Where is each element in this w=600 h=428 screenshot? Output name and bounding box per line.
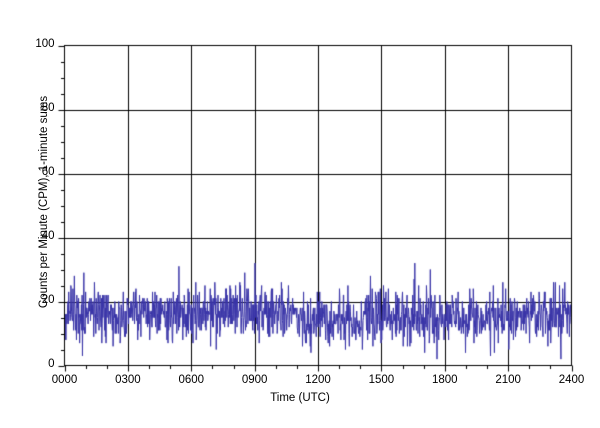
x-tick-label: 1500 (351, 374, 411, 386)
x-tick-label: 1200 (288, 374, 348, 386)
plot-area (0, 0, 600, 428)
y-tick-label: 80 (15, 102, 55, 114)
y-tick-label: 40 (15, 230, 55, 242)
x-tick-label: 2100 (478, 374, 538, 386)
x-tick-label: 0600 (161, 374, 221, 386)
y-tick-label: 100 (15, 38, 55, 50)
y-tick-label: 0 (15, 358, 55, 370)
x-tick-label: 2400 (542, 374, 600, 386)
x-axis-label: Time (UTC) (0, 392, 600, 404)
x-tick-label: 0300 (98, 374, 158, 386)
chart-figure: Observed Gamma Counts, AJ4CO, 13 Dec 201… (0, 0, 600, 428)
x-tick-label: 0900 (225, 374, 285, 386)
x-tick-label: 1800 (415, 374, 475, 386)
x-tick-label: 0000 (35, 374, 95, 386)
y-tick-label: 20 (15, 294, 55, 306)
y-tick-label: 60 (15, 166, 55, 178)
